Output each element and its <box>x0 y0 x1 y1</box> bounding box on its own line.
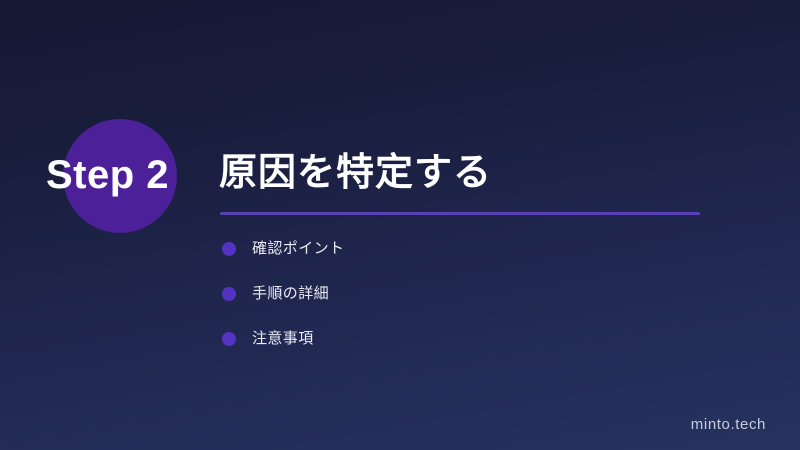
footer-watermark: minto.tech <box>691 416 766 433</box>
list-item: 手順の詳細 <box>222 279 702 309</box>
list-item-label: 確認ポイント <box>252 239 344 259</box>
bullet-dot-icon <box>222 242 236 256</box>
list-item: 注意事項 <box>222 324 702 354</box>
step-label: Step 2 <box>46 152 169 198</box>
list-item-label: 注意事項 <box>252 329 314 349</box>
bullet-dot-icon <box>222 287 236 301</box>
bullet-dot-icon <box>222 332 236 346</box>
title-divider <box>220 212 700 215</box>
presentation-slide: Step 2 原因を特定する 確認ポイント 手順の詳細 注意事項 minto.t… <box>0 0 800 450</box>
list-item: 確認ポイント <box>222 234 702 264</box>
page-title: 原因を特定する <box>219 148 492 198</box>
list-item-label: 手順の詳細 <box>252 284 329 304</box>
bullet-list: 確認ポイント 手順の詳細 注意事項 <box>222 234 702 369</box>
